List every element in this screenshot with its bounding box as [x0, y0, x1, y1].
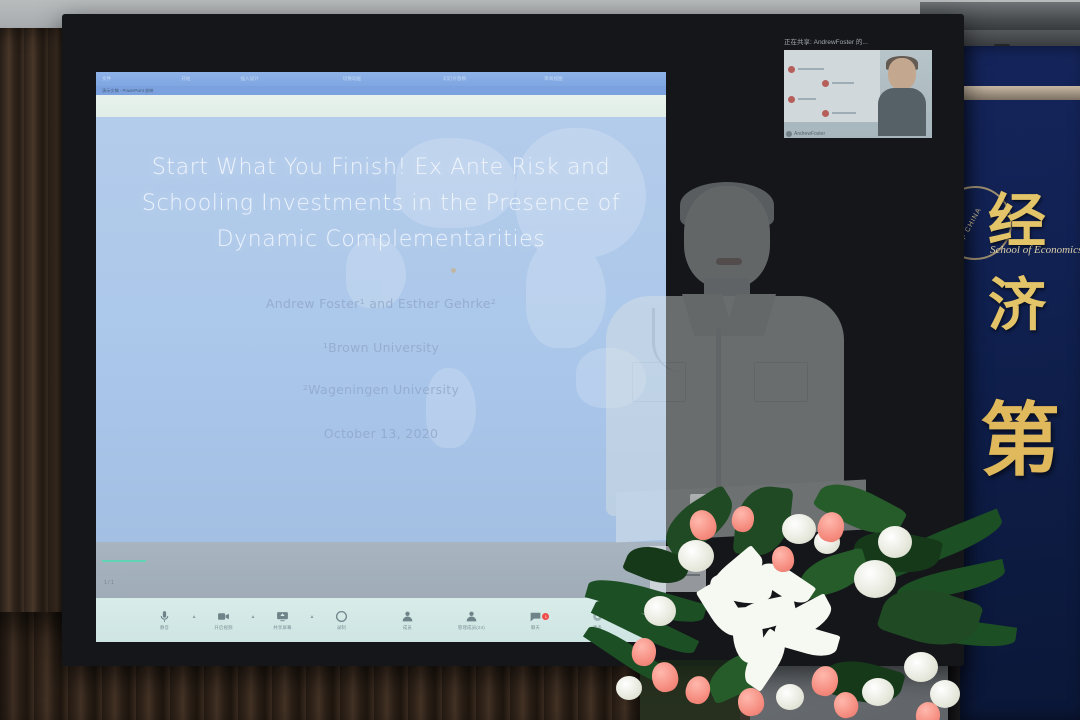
share-screen-icon: [276, 610, 289, 623]
doc-line: [832, 112, 856, 114]
participants-icon: [401, 610, 414, 623]
toolbar-label-chat: 聊天: [531, 625, 540, 631]
menu-item-0[interactable]: 文件: [102, 76, 111, 82]
thumb-person-body: [878, 88, 926, 136]
manage-participants-icon: [465, 610, 478, 623]
toolbar-button-video[interactable]: 开启视频: [198, 610, 250, 631]
menu-item-4[interactable]: 幻灯片放映: [443, 76, 466, 82]
banner-title-chinese: 经济: [988, 174, 1080, 342]
doc-line: [798, 68, 824, 70]
app-status-band: [96, 542, 666, 598]
ceiling-pipe-secondary: [955, 30, 1080, 46]
banner-pole: [960, 86, 1080, 100]
chat-unread-badge: 1: [542, 613, 549, 620]
conference-room-scene: OF CHINA 经济 School of Economics 第 正在录制中 …: [0, 0, 1080, 720]
projected-slide-screen: 文件 开始 插入设计 切换动画 幻灯片放映 审阅视图 演示文稿 - PowerP…: [96, 72, 666, 642]
menu-item-5[interactable]: 审阅视图: [544, 76, 562, 82]
toolbar-label-manage-participants: 管理成员(24): [458, 625, 485, 631]
share-chevron-up-icon[interactable]: ▲: [308, 614, 315, 620]
doc-marker-icon: [788, 66, 795, 73]
slide-date: October 13, 2020: [126, 426, 636, 441]
app-menubar[interactable]: 文件 开始 插入设计 切换动画 幻灯片放映 审阅视图: [96, 72, 666, 86]
toolbar-label-video: 开启视频: [214, 625, 232, 631]
video-thumbnail-panel[interactable]: 正在共享: AndrewFoster 的...: [776, 36, 936, 144]
slide-title: Start What You Finish! Ex Ante Risk and …: [126, 150, 636, 258]
toolbar-button-manage-participants[interactable]: 管理成员(24): [445, 610, 497, 631]
doc-line: [832, 82, 854, 84]
microphone-small-icon: [786, 131, 792, 137]
toolbar-button-mute[interactable]: 静音: [139, 610, 191, 631]
mute-chevron-up-icon[interactable]: ▲: [191, 614, 198, 620]
thumbnail-participant-name: AndrewFoster: [794, 131, 825, 137]
thumbnail-shared-document: [784, 50, 880, 122]
app-content-strip: [96, 95, 666, 117]
toolbar-label-mute: 静音: [160, 625, 169, 631]
app-toolbar-label: 演示文稿 - PowerPoint 放映: [102, 88, 153, 94]
presenter-pocket-right: [754, 362, 808, 402]
slide-title-line-2: Schooling Investments in the Presence of: [126, 186, 636, 222]
flower-bouquet: [586, 470, 1006, 720]
presenter-head: [684, 186, 770, 288]
video-chevron-up-icon[interactable]: ▲: [250, 614, 257, 620]
toolbar-button-share-screen[interactable]: 共享屏幕: [256, 610, 308, 631]
chat-icon: [529, 610, 542, 623]
toolbar-label-participants: 成员: [403, 625, 412, 631]
slide-authors: Andrew Foster¹ and Esther Gehrke²: [126, 296, 636, 311]
thumb-person-head: [888, 58, 916, 90]
toolbar-button-participants[interactable]: 成员: [381, 610, 433, 631]
slide-title-line-3: Dynamic Complementarities: [126, 222, 636, 258]
thumbnail-name-chip: AndrewFoster: [786, 131, 825, 137]
thumbnail-video-tile[interactable]: AndrewFoster: [784, 50, 932, 138]
app-toolbar[interactable]: 演示文稿 - PowerPoint 放映: [96, 86, 666, 95]
page-indicator: 1 / 1: [104, 580, 114, 586]
progress-line: [102, 560, 146, 562]
menu-item-3[interactable]: 切换动画: [343, 76, 361, 82]
presenter-overlay: [596, 186, 846, 516]
toolbar-label-record: 录制: [337, 625, 346, 631]
microphone-icon: [158, 610, 171, 623]
toolbar-label-share-screen: 共享屏幕: [273, 625, 291, 631]
menu-item-1[interactable]: 开始: [181, 76, 190, 82]
record-icon: [335, 610, 348, 623]
camera-icon: [217, 610, 230, 623]
slide-affiliation-2: ²Wageningen University: [126, 382, 636, 397]
slide-bullet-dot-icon: [451, 268, 456, 273]
meeting-toolbar[interactable]: 静音 ▲ 开启视频 ▲: [96, 598, 666, 642]
banner-title-english: School of Economics: [990, 244, 1080, 256]
doc-marker-icon: [822, 80, 829, 87]
doc-marker-icon: [788, 96, 795, 103]
doc-line: [798, 98, 816, 100]
toolbar-button-record[interactable]: 录制: [315, 610, 367, 631]
toolbar-button-chat[interactable]: 1 聊天: [509, 610, 561, 631]
doc-marker-icon: [822, 110, 829, 117]
slide-affiliation-1: ¹Brown University: [126, 340, 636, 355]
thumbnail-participant-video: [876, 58, 928, 134]
menu-item-2[interactable]: 插入设计: [240, 76, 258, 82]
presenter-mouth: [716, 258, 742, 265]
share-notice-label: 正在共享: AndrewFoster 的...: [784, 36, 868, 46]
slide-title-line-1: Start What You Finish! Ex Ante Risk and: [126, 150, 636, 186]
